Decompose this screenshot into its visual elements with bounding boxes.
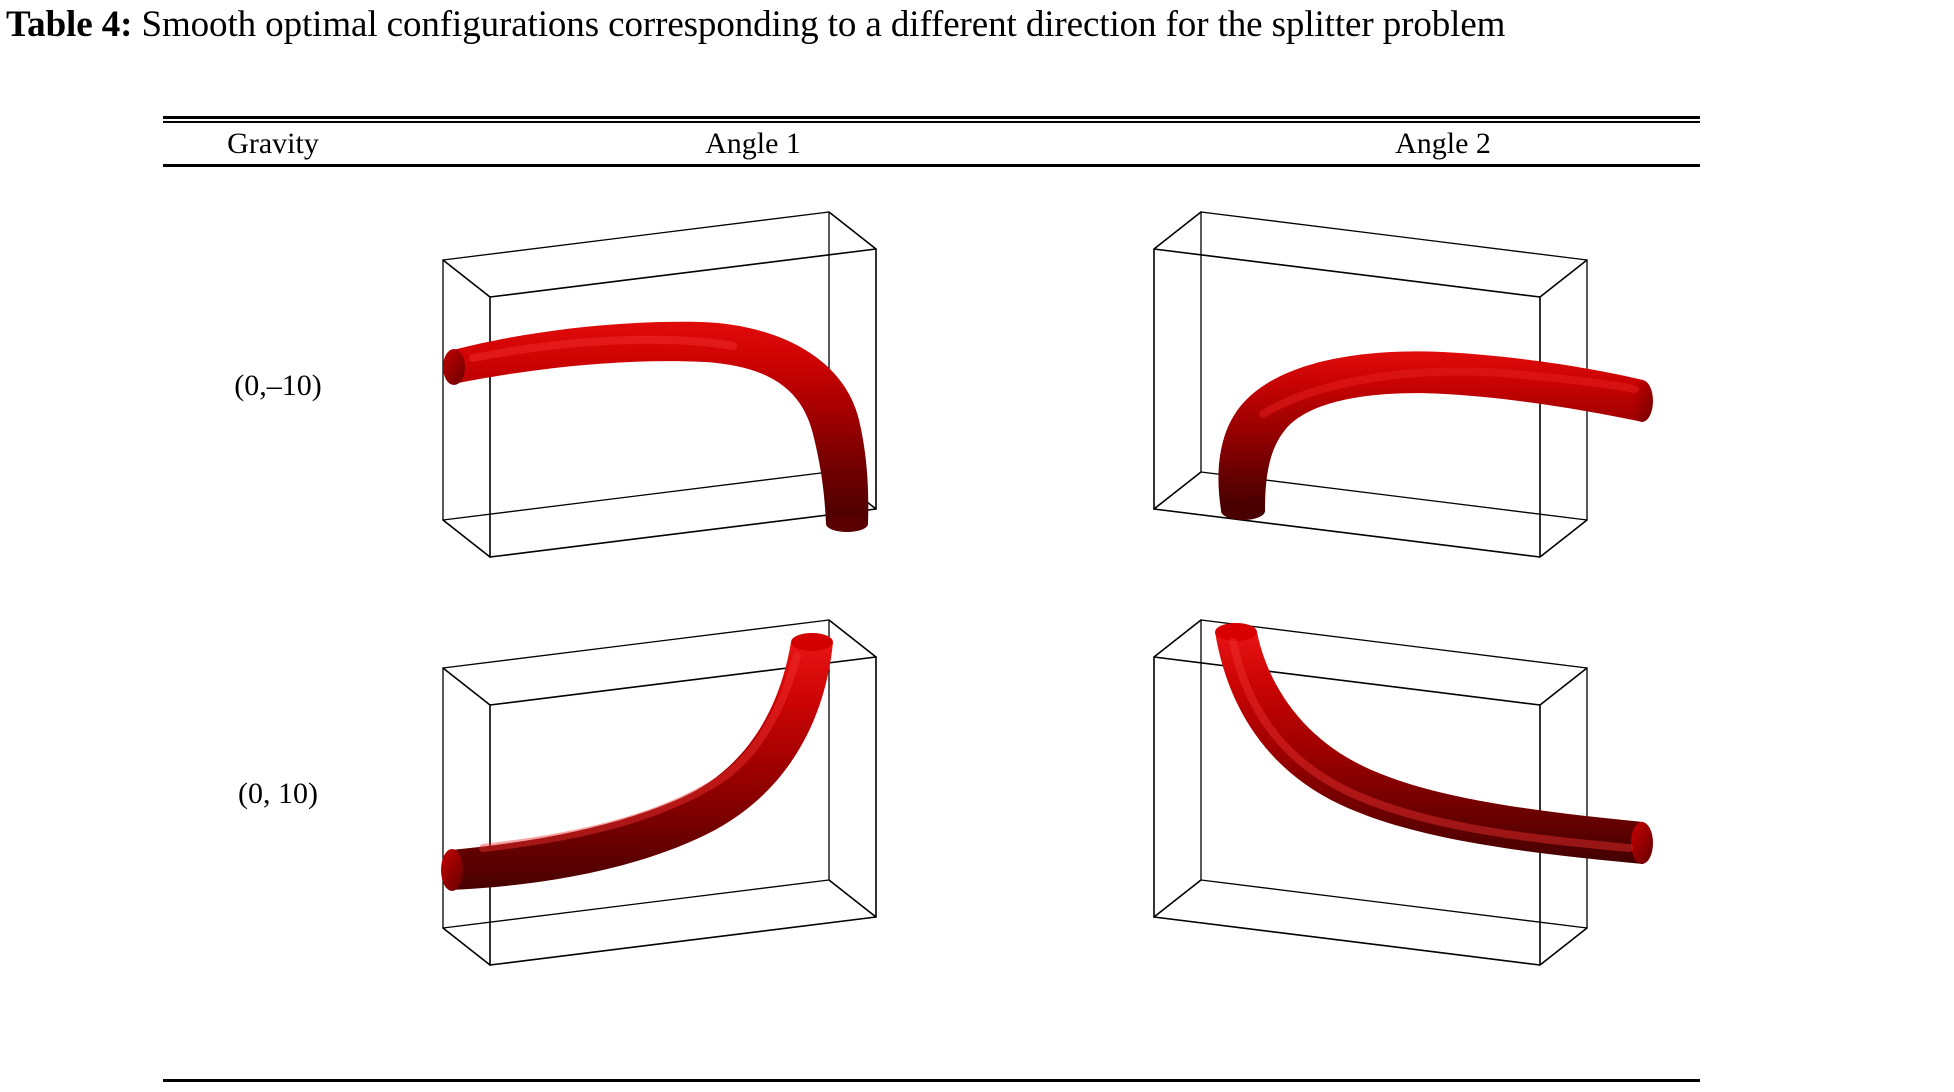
render-gravity-0-minus10-angle1 [413, 172, 973, 592]
tube-end-cap-left [443, 349, 465, 385]
table-header-row: Gravity Angle 1 Angle 2 [163, 125, 1700, 163]
table-4: Gravity Angle 1 Angle 2 (0,–10) [163, 110, 1700, 1085]
table-row: (0,–10) [163, 172, 1700, 592]
optimal-structure-shape [441, 633, 833, 891]
table-rule-bottom [163, 1079, 1700, 1082]
render-gravity-0-plus10-angle1 [413, 580, 973, 1000]
tube-end-cap-top [1215, 623, 1257, 641]
tube-end-cap-bottom [826, 516, 868, 532]
tube-end-cap-right [1631, 822, 1653, 864]
table-row: (0, 10) [163, 580, 1700, 1000]
row-label-gravity: (0,–10) [173, 368, 383, 404]
render-gravity-0-minus10-angle2 [1123, 172, 1683, 592]
table-rule-top [163, 116, 1700, 119]
tube-end-cap-top [791, 633, 833, 651]
wireframe-box-front [1154, 249, 1540, 557]
table-rule-header [163, 164, 1700, 167]
table-rule-top-second [163, 121, 1700, 123]
table-caption: Table 4: Smooth optimal configurations c… [6, 2, 1954, 48]
optimal-structure-shape [443, 322, 868, 532]
tube-end-cap-left [441, 849, 463, 891]
column-header-gravity: Gravity [173, 125, 373, 163]
column-header-angle2: Angle 2 [1173, 125, 1713, 163]
render-gravity-0-plus10-angle2 [1123, 580, 1683, 1000]
optimal-structure-shape [1218, 351, 1653, 520]
tube-end-cap-bottom [1221, 502, 1265, 520]
column-header-angle1: Angle 1 [483, 125, 1023, 163]
table-caption-text: Smooth optimal configurations correspond… [132, 4, 1505, 45]
row-label-gravity: (0, 10) [173, 776, 383, 812]
table-caption-label: Table 4: [6, 4, 132, 45]
